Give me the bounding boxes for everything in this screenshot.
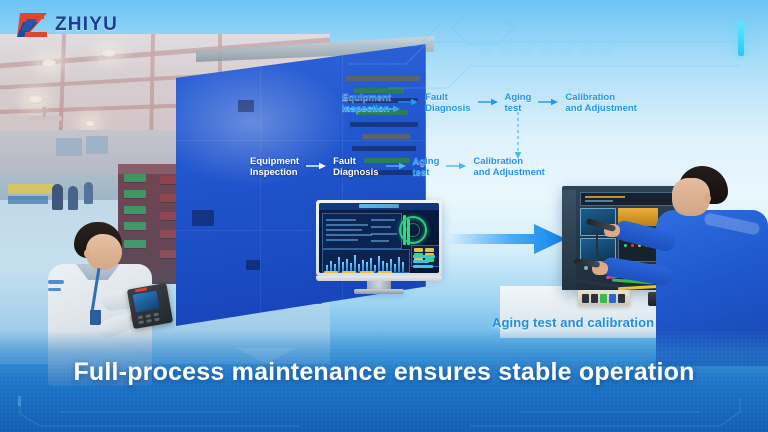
arrow-right-icon <box>478 94 498 112</box>
step-line-2: test <box>413 167 440 178</box>
flow-step-fault-diagnosis-2[interactable]: Fault Diagnosis <box>333 156 378 178</box>
step-line-1: Fault <box>425 92 470 103</box>
step-line-1: Equipment <box>250 156 299 167</box>
arrow-right-icon <box>398 94 418 112</box>
arrow-right-icon <box>446 158 466 176</box>
flow-row-1: Equipment Inspection Fault Diagnosis Agi… <box>342 92 637 114</box>
dashboard-title-bar <box>359 204 399 208</box>
step-line-2: Inspection <box>342 103 391 114</box>
monitor-stand-base <box>354 289 404 294</box>
bottom-tech-lines <box>0 392 768 432</box>
step-line-2: Inspection <box>250 167 299 178</box>
rack-side-panel <box>562 190 576 290</box>
flow-step-fault-diagnosis-1[interactable]: Fault Diagnosis <box>425 92 470 114</box>
slide-canvas: ZHIYU Equipment Inspection Fault Diagnos… <box>0 0 768 432</box>
vertical-dashed-arrow <box>517 112 519 156</box>
handheld-test-device[interactable] <box>127 283 173 329</box>
right-arrow-icon <box>448 222 566 256</box>
probe-wire <box>596 230 624 264</box>
waveform-chart <box>322 249 410 273</box>
monitor-screen <box>319 203 439 273</box>
step-line-1: Aging <box>505 92 532 103</box>
worker-ear <box>704 194 711 203</box>
step-line-1: Equipment <box>342 92 391 103</box>
arrow-right-icon <box>386 158 406 176</box>
worker-badge <box>90 310 101 325</box>
cyan-accent-bar <box>738 22 744 56</box>
test-dashboard-monitor[interactable] <box>316 200 442 294</box>
monitor-bezel <box>316 200 442 276</box>
arrow-right-icon <box>306 158 326 176</box>
step-line-1: Fault <box>333 156 378 167</box>
brand-logo[interactable]: ZHIYU <box>14 10 118 40</box>
flow-step-calibration-adjustment-2[interactable]: Calibration and Adjustment <box>473 156 544 178</box>
step-line-1: Calibration <box>473 156 544 167</box>
step-line-2: and Adjustment <box>565 103 636 114</box>
worker-ear <box>84 249 91 258</box>
step-line-2: and Adjustment <box>473 167 544 178</box>
device-screen <box>133 291 160 313</box>
component-tray <box>578 290 630 306</box>
step-line-1: Calibration <box>565 92 636 103</box>
z-logo-icon <box>14 10 50 40</box>
flow-row-2: Equipment Inspection Fault Diagnosis Agi… <box>250 156 545 178</box>
arrow-right-icon <box>538 94 558 112</box>
flow-step-aging-test-2[interactable]: Aging test <box>413 156 440 178</box>
brand-name: ZHIYU <box>55 14 118 36</box>
status-gauge <box>399 216 427 244</box>
flow-step-calibration-adjustment-1[interactable]: Calibration and Adjustment <box>565 92 636 114</box>
worker-face <box>86 234 122 270</box>
step-line-2: Diagnosis <box>333 167 378 178</box>
flow-step-aging-test-1[interactable]: Aging test <box>505 92 532 114</box>
flow-step-equipment-inspection-1[interactable]: Equipment Inspection <box>342 92 391 114</box>
step-line-1: Aging <box>413 156 440 167</box>
step-line-2: Diagnosis <box>425 103 470 114</box>
aging-caption: Aging test and calibration <box>492 315 654 330</box>
dashboard-table-panel <box>322 213 402 249</box>
page-title: Full-process maintenance ensures stable … <box>0 358 768 387</box>
flow-step-equipment-inspection-2[interactable]: Equipment Inspection <box>250 156 299 178</box>
